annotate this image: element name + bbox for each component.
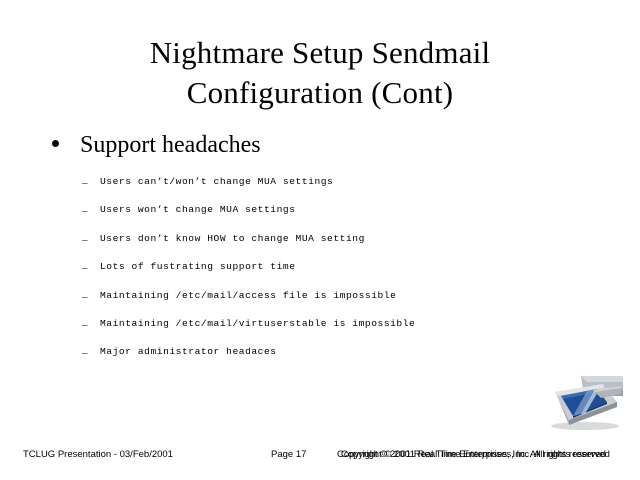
list-item-label: Major administrator headaces: [100, 346, 277, 358]
dash-bullet-icon: –: [82, 319, 92, 331]
list-item-label: Maintaining /etc/mail/access file is imp…: [100, 290, 396, 302]
list-item: – Users can’t/won’t change MUA settings: [82, 176, 602, 204]
real-time-enterprises-logo: [541, 374, 625, 432]
presentation-slide: Nightmare Setup Sendmail Configuration (…: [0, 0, 640, 480]
list-item: – Maintaining /etc/mail/virtuserstable i…: [82, 318, 602, 346]
list-item: – Users won’t change MUA settings: [82, 204, 602, 232]
footer-presentation-label: TCLUG Presentation - 03/Feb/2001: [23, 449, 173, 461]
slide-title-line-1: Nightmare Setup Sendmail: [60, 33, 580, 73]
list-item: – Major administrator headaces: [82, 346, 602, 374]
list-item: – Users don’t know HOW to change MUA set…: [82, 233, 602, 261]
level1-bullet-label: Support headaches: [80, 132, 261, 158]
slide-title-line-2: Configuration (Cont): [60, 73, 580, 113]
list-item-label: Users can’t/won’t change MUA settings: [100, 176, 333, 188]
dash-bullet-icon: –: [82, 347, 92, 359]
dash-bullet-icon: –: [82, 234, 92, 246]
list-item: – Maintaining /etc/mail/access file is i…: [82, 290, 602, 318]
list-item-label: Maintaining /etc/mail/virtuserstable is …: [100, 318, 415, 330]
dash-bullet-icon: –: [82, 205, 92, 217]
list-item: – Lots of fustrating support time: [82, 261, 602, 289]
slide-title: Nightmare Setup Sendmail Configuration (…: [60, 33, 580, 113]
disc-bullet-icon: [52, 140, 59, 147]
dash-bullet-icon: –: [82, 291, 92, 303]
level2-bullet-list: – Users can’t/won’t change MUA settings …: [82, 176, 602, 375]
level1-bullet-item: Support headaches: [52, 132, 261, 158]
list-item-label: Users don’t know HOW to change MUA setti…: [100, 233, 365, 245]
footer-copyright-overlay: Copyright © 2001 Real Time Enterprises, …: [341, 449, 610, 461]
dash-bullet-icon: –: [82, 177, 92, 189]
dash-bullet-icon: –: [82, 262, 92, 274]
list-item-label: Users won’t change MUA settings: [100, 204, 296, 216]
list-item-label: Lots of fustrating support time: [100, 261, 296, 273]
footer-page-number: Page 17: [271, 449, 306, 461]
